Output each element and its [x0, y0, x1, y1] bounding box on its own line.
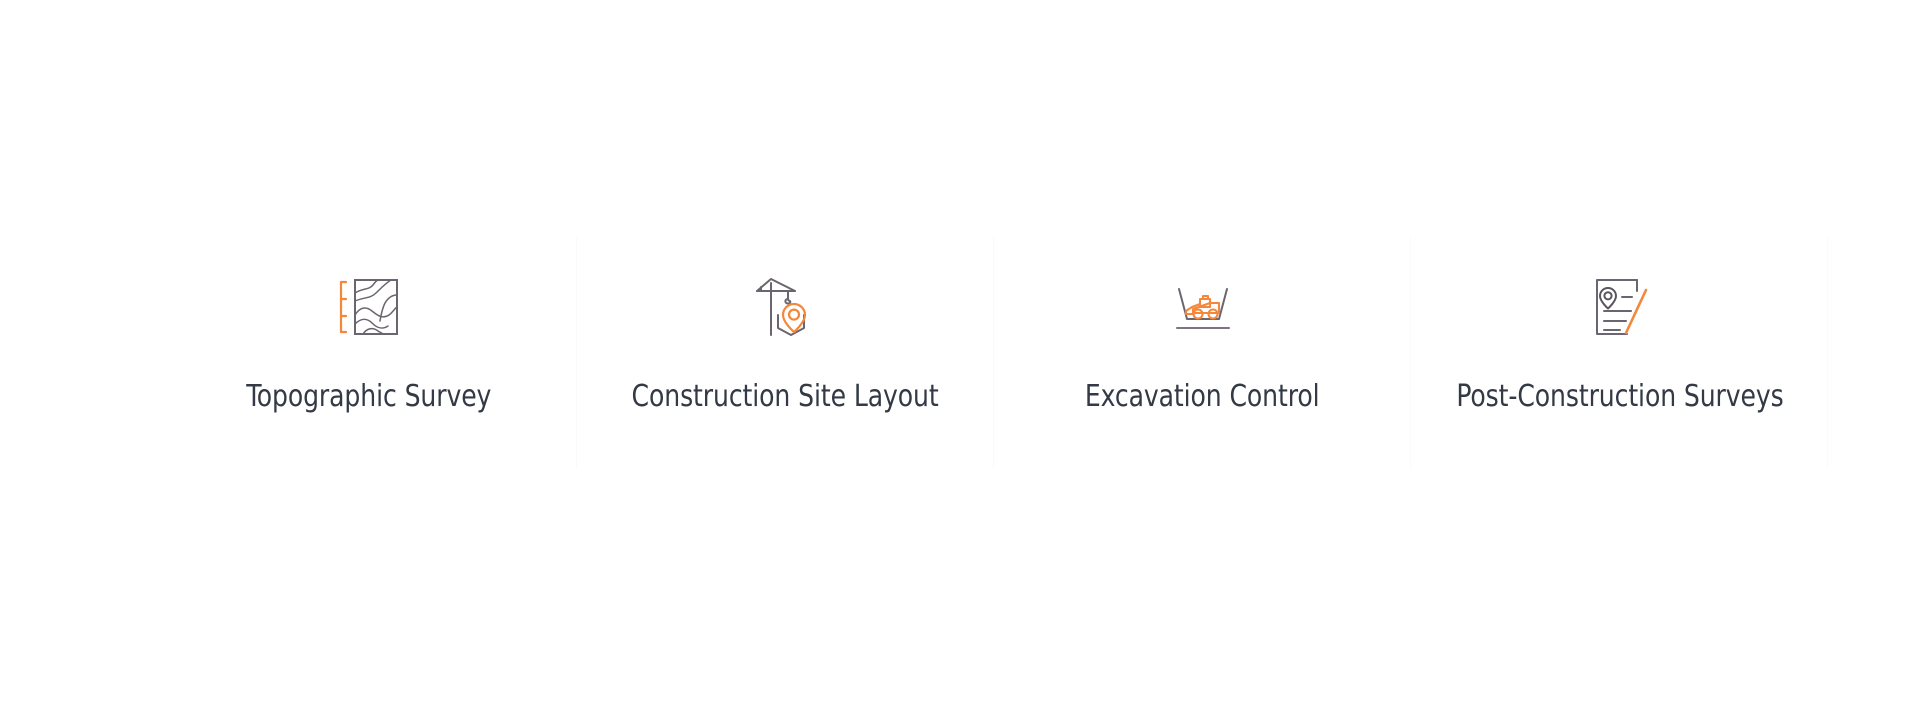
feature-card-excavation-control[interactable]: Excavation Control [994, 237, 1411, 469]
feature-card-construction-site-layout[interactable]: Construction Site Layout [577, 237, 994, 469]
feature-card-topographic-survey[interactable]: Topographic Survey [160, 237, 577, 469]
features-section: Topographic Survey [0, 0, 1906, 706]
crane-location-pin-icon [738, 259, 834, 355]
features-row: Topographic Survey [160, 237, 1828, 469]
feature-label: Post-Construction Surveys [1456, 379, 1783, 415]
feature-card-post-construction-surveys[interactable]: Post-Construction Surveys [1411, 237, 1828, 469]
feature-label: Excavation Control [1085, 379, 1320, 415]
topographic-map-icon [321, 259, 417, 355]
survey-document-pen-icon [1572, 259, 1668, 355]
feature-label: Topographic Survey [246, 379, 491, 415]
excavator-trench-icon [1155, 259, 1251, 355]
feature-label: Construction Site Layout [632, 379, 939, 415]
